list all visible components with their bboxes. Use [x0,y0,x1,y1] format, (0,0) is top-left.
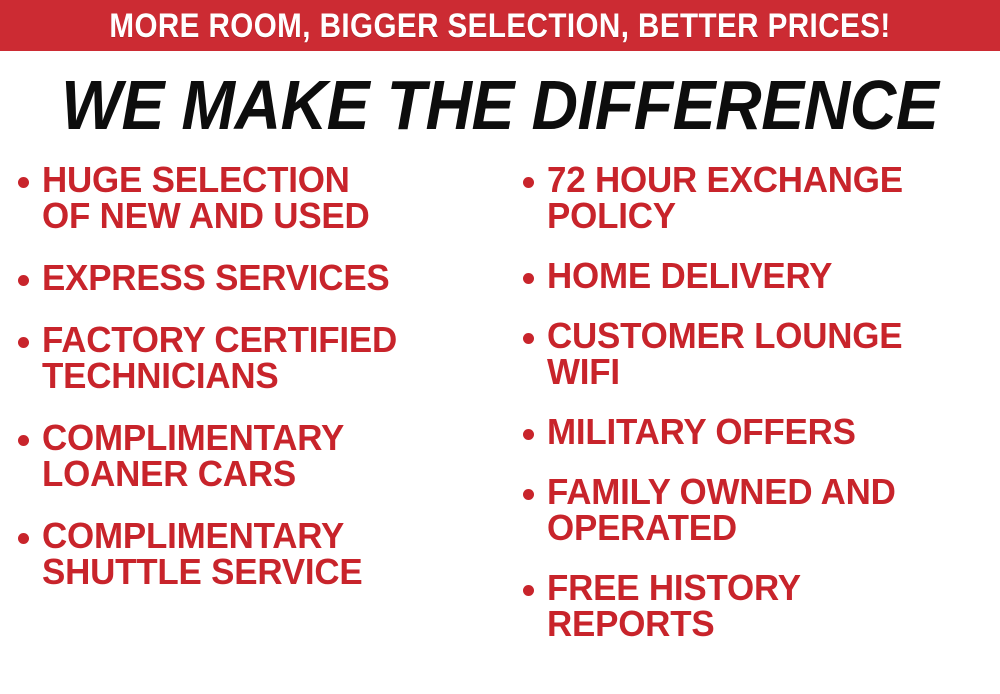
right-bullet-column: 72 HOUR EXCHANGE POLICY HOME DELIVERY CU… [505,156,1000,694]
list-item-label: COMPLIMENTARY SHUTTLE SERVICE [42,518,362,590]
bullet-dot-icon [18,177,29,188]
list-item-label: HOME DELIVERY [547,258,832,294]
bullet-columns: HUGE SELECTION OF NEW AND USED EXPRESS S… [0,156,1000,694]
list-item-label: FACTORY CERTIFIED TECHNICIANS [42,322,397,394]
list-item: HOME DELIVERY [523,258,1000,294]
list-item: HUGE SELECTION OF NEW AND USED [18,162,505,234]
list-item-label: FAMILY OWNED AND OPERATED [547,474,896,546]
bullet-dot-icon [523,489,534,500]
bullet-dot-icon [18,533,29,544]
list-item: FAMILY OWNED AND OPERATED [523,474,1000,546]
list-item: EXPRESS SERVICES [18,260,505,296]
list-item-label: HUGE SELECTION OF NEW AND USED [42,162,370,234]
headline-container: WE MAKE THE DIFFERENCE [0,64,1000,146]
list-item: FREE HISTORY REPORTS [523,570,1000,642]
top-banner: MORE ROOM, BIGGER SELECTION, BETTER PRIC… [0,0,1000,51]
list-item: 72 HOUR EXCHANGE POLICY [523,162,1000,234]
page-title: WE MAKE THE DIFFERENCE [61,70,938,140]
bullet-dot-icon [523,333,534,344]
bullet-dot-icon [523,177,534,188]
list-item: CUSTOMER LOUNGE WIFI [523,318,1000,390]
list-item: COMPLIMENTARY LOANER CARS [18,420,505,492]
top-banner-text: MORE ROOM, BIGGER SELECTION, BETTER PRIC… [109,9,890,43]
bullet-dot-icon [18,337,29,348]
list-item-label: COMPLIMENTARY LOANER CARS [42,420,344,492]
list-item-label: 72 HOUR EXCHANGE POLICY [547,162,903,234]
list-item-label: EXPRESS SERVICES [42,260,390,296]
list-item-label: MILITARY OFFERS [547,414,856,450]
bullet-dot-icon [523,585,534,596]
promo-poster: MORE ROOM, BIGGER SELECTION, BETTER PRIC… [0,0,1000,694]
bullet-dot-icon [18,435,29,446]
left-bullet-column: HUGE SELECTION OF NEW AND USED EXPRESS S… [0,156,505,694]
list-item: FACTORY CERTIFIED TECHNICIANS [18,322,505,394]
list-item: MILITARY OFFERS [523,414,1000,450]
list-item-label: FREE HISTORY REPORTS [547,570,801,642]
bullet-dot-icon [523,273,534,284]
list-item-label: CUSTOMER LOUNGE WIFI [547,318,902,390]
bullet-dot-icon [523,429,534,440]
list-item: COMPLIMENTARY SHUTTLE SERVICE [18,518,505,590]
bullet-dot-icon [18,275,29,286]
